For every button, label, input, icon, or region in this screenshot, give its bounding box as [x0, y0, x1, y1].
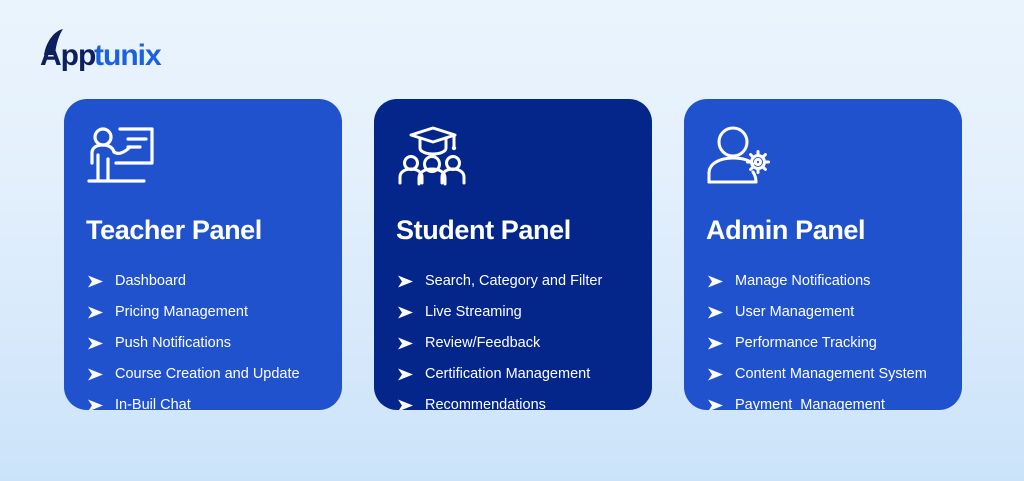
list-item[interactable]: Review/Feedback [396, 328, 652, 359]
list-item-label: Payment Management [735, 398, 885, 410]
list-item-label: Review/Feedback [425, 336, 540, 351]
list-item[interactable]: User Management [706, 297, 962, 328]
panel-card-student[interactable]: Student Panel Search, Category and Filte… [374, 99, 652, 410]
list-item[interactable]: Performance Tracking [706, 328, 962, 359]
arrow-right-bullet-icon [706, 337, 724, 351]
list-item[interactable]: Content Management System [706, 359, 962, 390]
list-item-label: Recommendations [425, 398, 546, 410]
arrow-right-bullet-icon [86, 337, 104, 351]
panel-card-row: Teacher Panel Dashboard Pricing Manageme… [64, 99, 962, 410]
list-item-label: User Management [735, 305, 854, 320]
panel-title: Student Panel [396, 217, 652, 244]
arrow-right-bullet-icon [86, 368, 104, 382]
list-item-label: Performance Tracking [735, 336, 877, 351]
arrow-right-bullet-icon [706, 368, 724, 382]
arrow-right-bullet-icon [396, 337, 414, 351]
feature-list: Manage Notifications User Management Per… [706, 266, 962, 410]
logo-mark: App tunix [32, 28, 182, 72]
feature-list: Dashboard Pricing Management Push Notifi… [86, 266, 342, 410]
list-item[interactable]: Recommendations [396, 390, 652, 410]
arrow-right-bullet-icon [86, 275, 104, 289]
list-item-label: Push Notifications [115, 336, 231, 351]
brand-logo[interactable]: App tunix [32, 28, 182, 72]
apptunix-wordmark-icon: App tunix [32, 28, 182, 72]
arrow-right-bullet-icon [706, 275, 724, 289]
list-item-label: Course Creation and Update [115, 367, 300, 382]
arrow-right-bullet-icon [86, 399, 104, 411]
arrow-right-bullet-icon [396, 306, 414, 320]
list-item-label: Search, Category and Filter [425, 274, 602, 289]
list-item[interactable]: Manage Notifications [706, 266, 962, 297]
list-item-label: Certification Management [425, 367, 590, 382]
teacher-presenting-icon [86, 123, 162, 189]
list-item[interactable]: Live Streaming [396, 297, 652, 328]
arrow-right-bullet-icon [706, 306, 724, 320]
feature-list: Search, Category and Filter Live Streami… [396, 266, 652, 410]
arrow-right-bullet-icon [396, 275, 414, 289]
list-item[interactable]: In-Buil Chat [86, 390, 342, 410]
list-item-label: Pricing Management [115, 305, 248, 320]
arrow-right-bullet-icon [396, 399, 414, 411]
logo-text-dark: App [40, 39, 96, 72]
arrow-right-bullet-icon [86, 306, 104, 320]
graduates-group-icon [396, 123, 472, 189]
list-item[interactable]: Pricing Management [86, 297, 342, 328]
list-item-label: In-Buil Chat [115, 398, 191, 410]
panel-title: Admin Panel [706, 217, 962, 244]
list-item[interactable]: Dashboard [86, 266, 342, 297]
list-item[interactable]: Course Creation and Update [86, 359, 342, 390]
logo-text-light: tunix [94, 39, 162, 72]
list-item-label: Content Management System [735, 367, 927, 382]
panel-card-teacher[interactable]: Teacher Panel Dashboard Pricing Manageme… [64, 99, 342, 410]
list-item-label: Live Streaming [425, 305, 522, 320]
arrow-right-bullet-icon [396, 368, 414, 382]
list-item[interactable]: Payment Management [706, 390, 962, 410]
user-gear-icon [706, 123, 782, 189]
list-item[interactable]: Push Notifications [86, 328, 342, 359]
list-item[interactable]: Certification Management [396, 359, 652, 390]
list-item[interactable]: Search, Category and Filter [396, 266, 652, 297]
panel-card-admin[interactable]: Admin Panel Manage Notifications User Ma… [684, 99, 962, 410]
arrow-right-bullet-icon [706, 399, 724, 411]
list-item-label: Manage Notifications [735, 274, 870, 289]
list-item-label: Dashboard [115, 274, 186, 289]
panel-title: Teacher Panel [86, 217, 342, 244]
